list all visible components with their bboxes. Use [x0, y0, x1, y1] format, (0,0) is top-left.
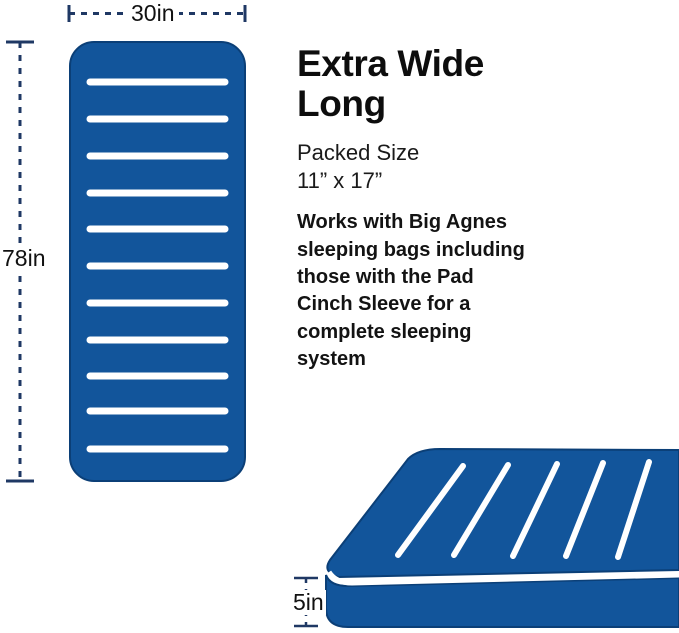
product-text-panel: Extra Wide Long Packed Size 11” x 17” Wo… — [297, 44, 547, 374]
packed-size-block: Packed Size 11” x 17” — [297, 139, 547, 195]
thickness-dimension-label: 5in — [291, 590, 326, 615]
packed-size-label: Packed Size — [297, 139, 547, 167]
packed-size-value: 11” x 17” — [297, 167, 547, 195]
headline-line-2: Long — [297, 84, 547, 124]
headline-line-1: Extra Wide — [297, 44, 547, 84]
length-dimension-label: 78in — [0, 245, 47, 272]
product-dimension-illustration: 30in 78in 5in Extra Wide Long Packed Siz… — [0, 0, 679, 633]
width-dimension-label: 30in — [126, 2, 179, 25]
pad-body — [70, 42, 245, 481]
page-title: Extra Wide Long — [297, 44, 547, 124]
sleeping-pad-perspective-view — [326, 449, 679, 627]
sleeping-pad-top-view — [70, 42, 245, 481]
product-description: Works with Big Agnes sleeping bags inclu… — [297, 209, 529, 373]
